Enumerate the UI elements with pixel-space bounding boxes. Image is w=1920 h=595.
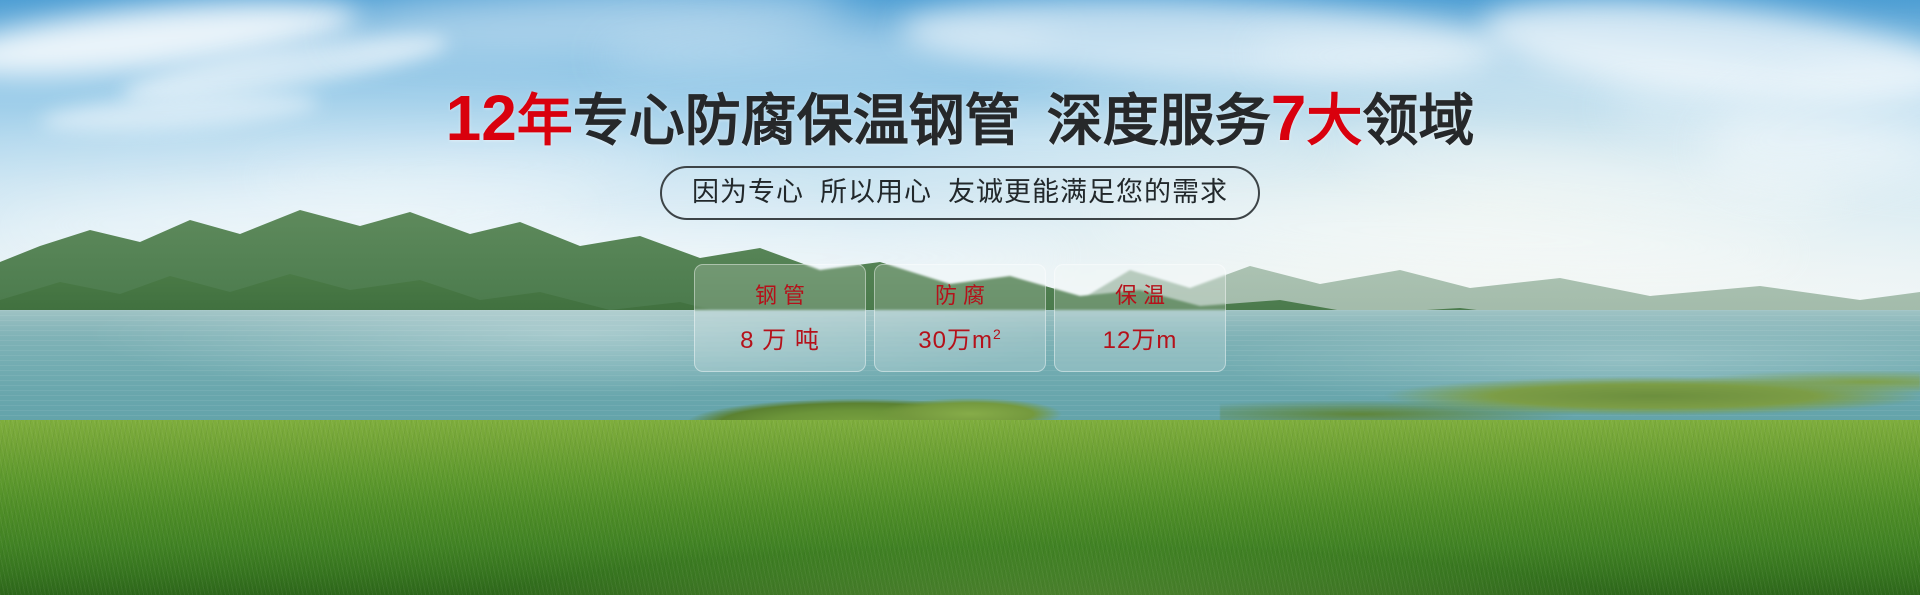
stat-value: 8 万 吨 [740,319,820,356]
headline-main-phrase: 专心防腐保温钢管 [573,89,1021,152]
stat-value-text: 30万m [918,327,993,354]
stat-value-text: 12万m [1103,327,1178,354]
headline-service-phrase: 深度服务 [1047,89,1271,152]
stat-value-text: 8 万 吨 [740,327,820,354]
stat-value: 12万m [1103,319,1178,356]
stat-card-group: 钢管 8 万 吨 防腐 30万m2 保温 12万m [694,264,1226,372]
stat-title: 钢管 [749,281,811,311]
headline-years-number: 12 [446,82,517,154]
stat-title: 防腐 [929,281,991,311]
page-title: 12年专心防腐保温钢管深度服务7大领域 [0,88,1920,151]
grass-highlight [0,420,1920,595]
stat-title: 保温 [1109,281,1171,311]
subtitle-part-1: 因为专心 [692,177,804,207]
headline-fields-number: 7 [1271,82,1307,154]
stat-card-steel-pipe: 钢管 8 万 吨 [694,264,866,372]
subtitle-pill: 因为专心所以用心友诚更能满足您的需求 [660,166,1260,220]
stat-card-insulation: 保温 12万m [1054,264,1226,372]
headline-fields-word: 领域 [1362,89,1474,152]
headline-years-unit: 年 [517,89,573,152]
subtitle-part-3: 友诚更能满足您的需求 [948,177,1228,207]
stat-value-superscript: 2 [993,326,1002,342]
stat-value: 30万m2 [918,319,1001,356]
subtitle-part-2: 所以用心 [820,177,932,207]
headline-fields-measure: 大 [1306,89,1362,152]
stat-card-anticorrosion: 防腐 30万m2 [874,264,1046,372]
hero-banner: 12年专心防腐保温钢管深度服务7大领域 因为专心所以用心友诚更能满足您的需求 钢… [0,0,1920,595]
